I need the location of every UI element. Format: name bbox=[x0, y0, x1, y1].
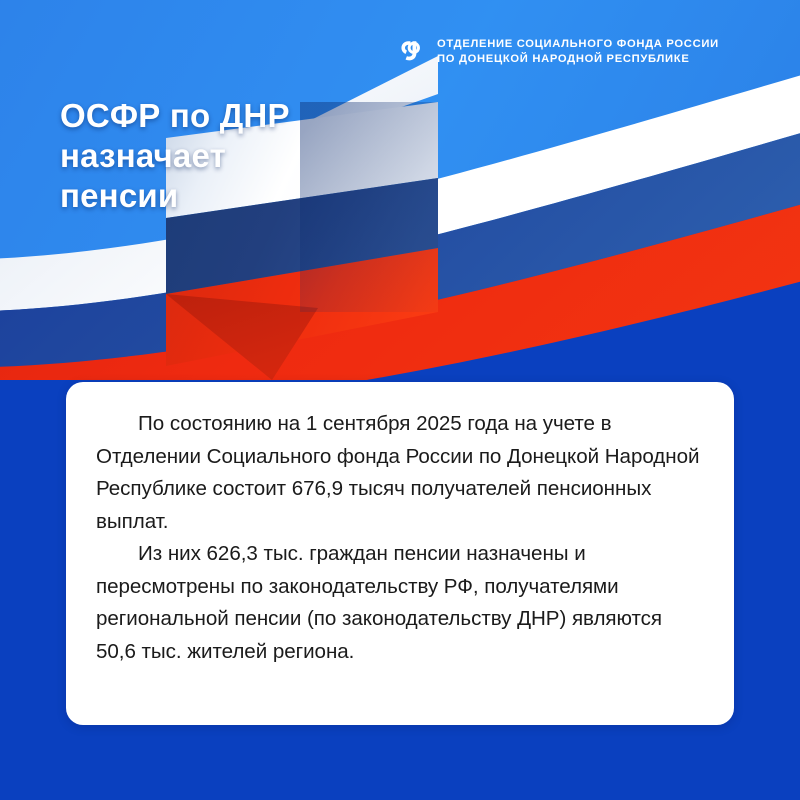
page-title: ОСФР по ДНР назначает пенсии bbox=[60, 96, 290, 216]
headline-line-2: назначает bbox=[60, 136, 290, 176]
brand-line-2: ПО ДОНЕЦКОЙ НАРОДНОЙ РЕСПУБЛИКЕ bbox=[437, 52, 719, 66]
brand-line-1: ОТДЕЛЕНИЕ СОЦИАЛЬНОГО ФОНДА РОССИИ bbox=[437, 37, 719, 51]
headline-line-1: ОСФР по ДНР bbox=[60, 96, 290, 136]
info-card: По состоянию на 1 сентября 2025 года на … bbox=[66, 382, 734, 725]
social-fund-monogram-icon bbox=[396, 36, 426, 66]
card-paragraph-1: По состоянию на 1 сентября 2025 года на … bbox=[96, 408, 704, 538]
poster: ОТДЕЛЕНИЕ СОЦИАЛЬНОГО ФОНДА РОССИИ ПО ДО… bbox=[0, 0, 800, 800]
headline-line-3: пенсии bbox=[60, 176, 290, 216]
brand-header: ОТДЕЛЕНИЕ СОЦИАЛЬНОГО ФОНДА РОССИИ ПО ДО… bbox=[396, 36, 719, 66]
brand-text-block: ОТДЕЛЕНИЕ СОЦИАЛЬНОГО ФОНДА РОССИИ ПО ДО… bbox=[437, 37, 719, 66]
card-paragraph-2: Из них 626,3 тыс. граждан пенсии назначе… bbox=[96, 538, 704, 668]
